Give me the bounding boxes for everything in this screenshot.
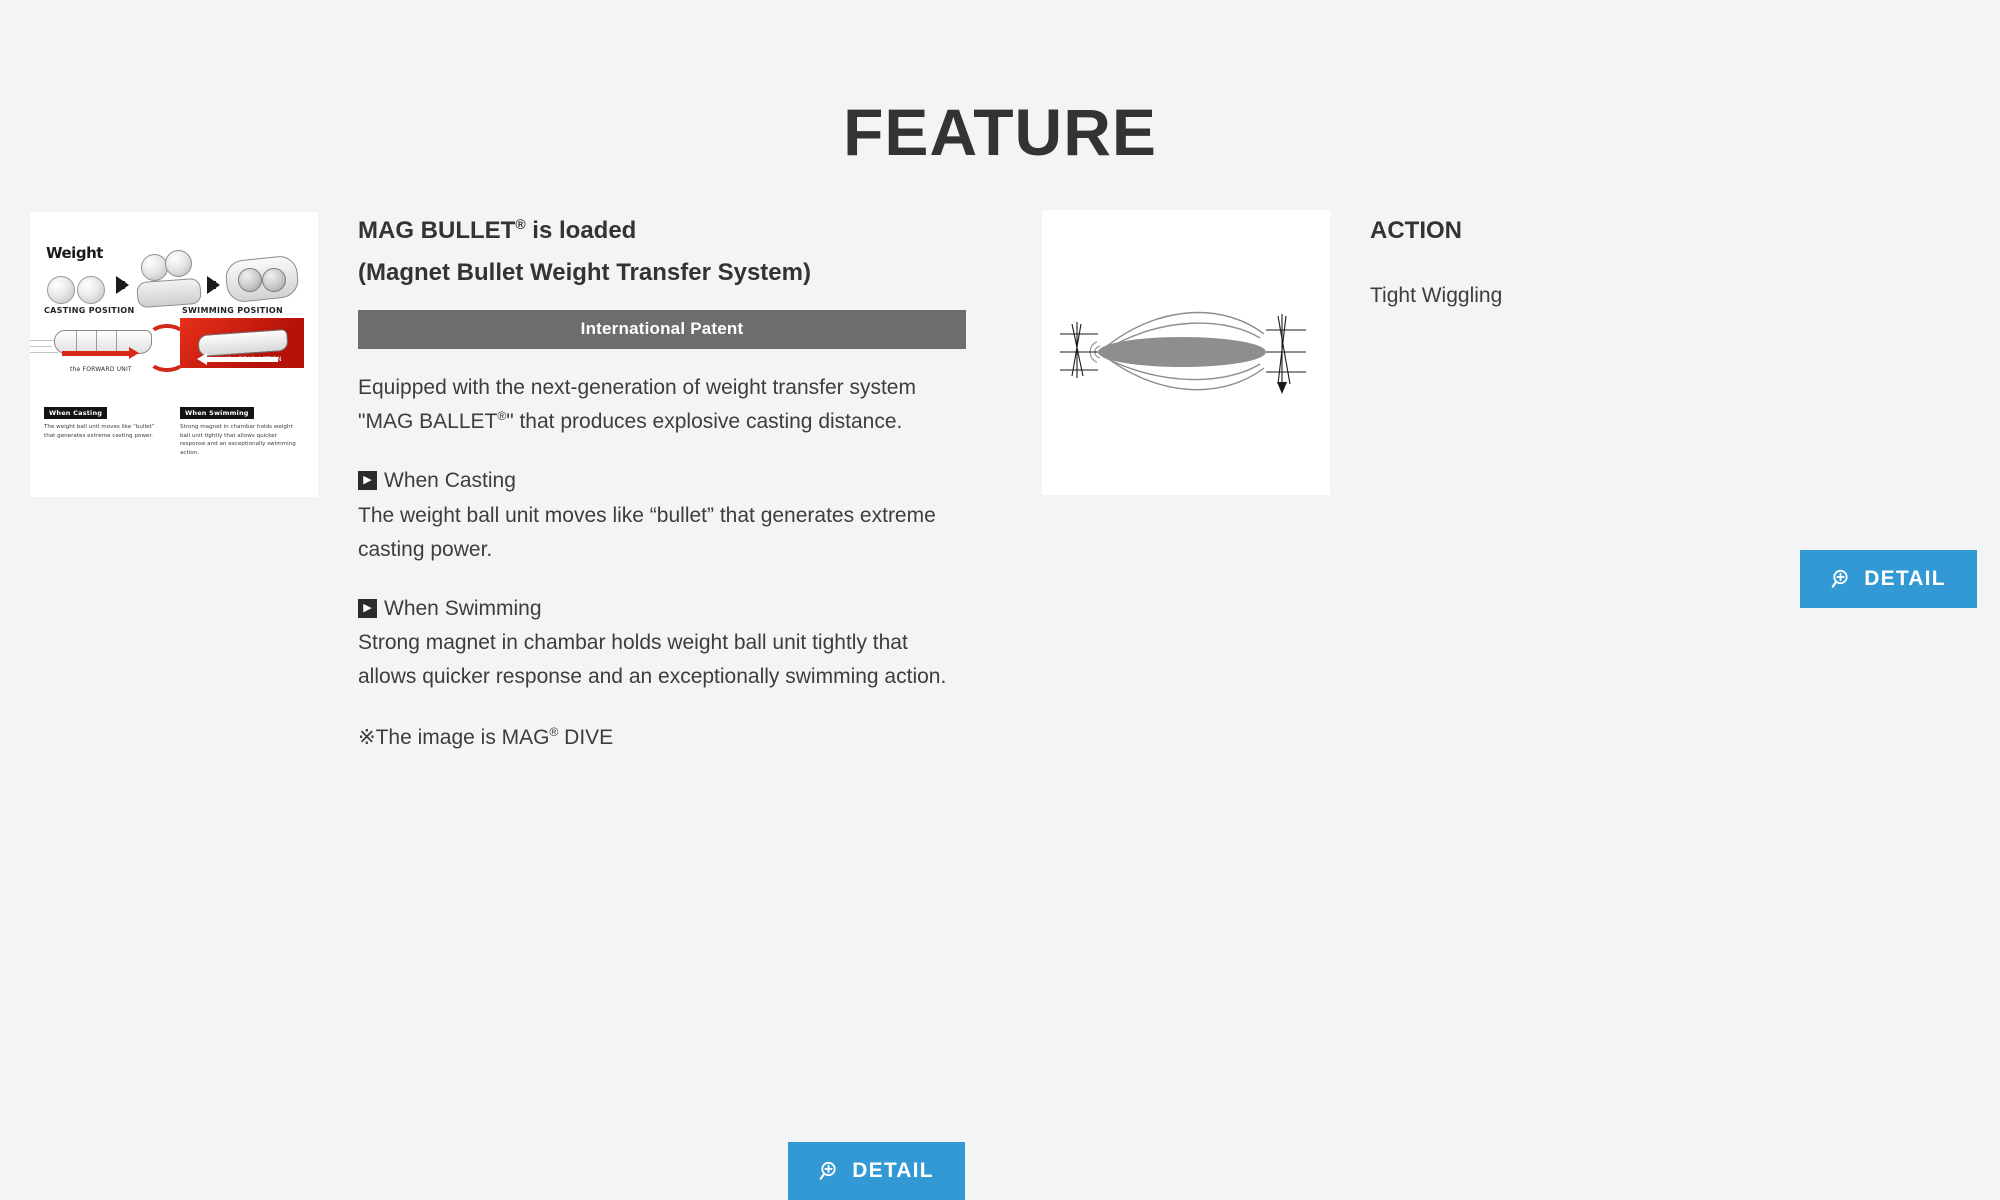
action-detail-button[interactable]: DETAIL bbox=[1800, 550, 1977, 608]
lure-segment-line bbox=[96, 331, 97, 351]
action-description: Tight Wiggling bbox=[1370, 280, 1770, 312]
feature-heading-text: MAG BULLET bbox=[358, 217, 515, 244]
weight-ball-icon bbox=[165, 250, 192, 277]
mag-bullet-diagram-image: Weight bbox=[30, 212, 318, 497]
play-triangle-icon: ▶ bbox=[358, 471, 377, 490]
diagram-captions: When Casting The weight ball unit moves … bbox=[30, 402, 318, 472]
swimming-arrow-caption: the REAR ACTION bbox=[226, 356, 282, 363]
action-text-column: ACTION Tight Wiggling bbox=[1370, 210, 1770, 312]
registered-mark: ® bbox=[515, 216, 525, 232]
image-note: ※The image is MAG® DIVE bbox=[358, 722, 966, 754]
play-triangle-icon: ▶ bbox=[358, 599, 377, 618]
when-casting-body: The weight ball unit moves like “bullet”… bbox=[358, 499, 966, 567]
weight-ball-icon bbox=[238, 268, 262, 292]
feature-heading-line-2: (Magnet Bullet Weight Transfer System) bbox=[358, 252, 966, 294]
international-patent-badge: International Patent bbox=[358, 310, 966, 349]
when-swimming-block: ▶ When Swimming Strong magnet in chambar… bbox=[358, 593, 966, 695]
weight-balls-group: Weight bbox=[44, 242, 110, 306]
note-text: The image is MAG bbox=[376, 726, 550, 749]
feature-page: FEATURE Weight bbox=[0, 0, 2000, 1024]
lure-body-shape bbox=[197, 329, 288, 357]
when-casting-block: ▶ When Casting The weight ball unit move… bbox=[358, 465, 966, 567]
caption-text: Strong magnet in chambar holds weight ba… bbox=[180, 423, 302, 458]
wiggling-lure-illustration bbox=[1050, 272, 1322, 432]
lure-casting-illustration bbox=[44, 320, 162, 364]
weight-ball-cluster bbox=[135, 244, 201, 306]
enclosed-weight-unit bbox=[226, 250, 296, 306]
weight-ball-icon bbox=[77, 276, 105, 304]
feature-row: Weight bbox=[0, 210, 2000, 1024]
swimming-position-label: SWIMMING POSITION bbox=[182, 306, 283, 315]
arrow-right-icon bbox=[116, 276, 129, 294]
when-swimming-label: When Swimming bbox=[384, 593, 542, 625]
action-detail-button-label: DETAIL bbox=[1864, 567, 1945, 591]
diagram-artwork: Weight bbox=[30, 212, 318, 497]
diagram-caption: When Casting The weight ball unit moves … bbox=[44, 402, 166, 440]
description-suffix: " that produces explosive casting distan… bbox=[506, 410, 902, 433]
zoom-in-icon bbox=[819, 1160, 841, 1182]
caption-tag: When Swimming bbox=[180, 407, 254, 419]
when-casting-label: When Casting bbox=[384, 465, 516, 497]
when-casting-title: ▶ When Casting bbox=[358, 465, 966, 497]
feature-detail-button-label: DETAIL bbox=[852, 1159, 933, 1183]
casting-arrow-caption: the FORWARD UNIT bbox=[70, 366, 132, 373]
feature-detail-button[interactable]: DETAIL bbox=[788, 1142, 965, 1200]
action-illustration-image bbox=[1042, 210, 1330, 495]
weight-ball-icon bbox=[47, 276, 75, 304]
weight-ball-icon bbox=[141, 254, 168, 281]
reference-mark-icon: ※ bbox=[358, 726, 376, 749]
feature-text-column: MAG BULLET® is loaded (Magnet Bullet Wei… bbox=[358, 210, 966, 754]
diagram-caption: When Swimming Strong magnet in chambar h… bbox=[180, 402, 302, 458]
weight-label: Weight bbox=[46, 244, 103, 262]
page-title: FEATURE bbox=[0, 96, 2000, 169]
weight-ball-icon bbox=[262, 268, 286, 292]
caption-tag: When Casting bbox=[44, 407, 107, 419]
arrow-right-icon bbox=[207, 276, 220, 294]
when-swimming-title: ▶ When Swimming bbox=[358, 593, 966, 625]
zoom-in-icon bbox=[1831, 568, 1853, 590]
lure-segment-line bbox=[76, 331, 77, 351]
casting-position-label: CASTING POSITION bbox=[44, 306, 134, 315]
feature-heading-suffix: is loaded bbox=[526, 217, 637, 244]
feature-heading-line-1: MAG BULLET® is loaded bbox=[358, 210, 966, 252]
diagram-positions: CASTING POSITION SWIMMING POSITION bbox=[30, 304, 318, 400]
action-artwork bbox=[1042, 210, 1330, 495]
note-suffix: DIVE bbox=[558, 726, 613, 749]
lure-segment-line bbox=[116, 331, 117, 351]
when-swimming-body: Strong magnet in chambar holds weight ba… bbox=[358, 626, 966, 694]
caption-text: The weight ball unit moves like “bullet”… bbox=[44, 423, 166, 440]
feature-description: Equipped with the next-generation of wei… bbox=[358, 371, 966, 439]
action-title: ACTION bbox=[1370, 210, 1770, 252]
casting-direction-arrow-icon bbox=[62, 351, 130, 356]
registered-mark: ® bbox=[497, 409, 506, 423]
diagram-weight-sequence: Weight bbox=[44, 230, 304, 306]
